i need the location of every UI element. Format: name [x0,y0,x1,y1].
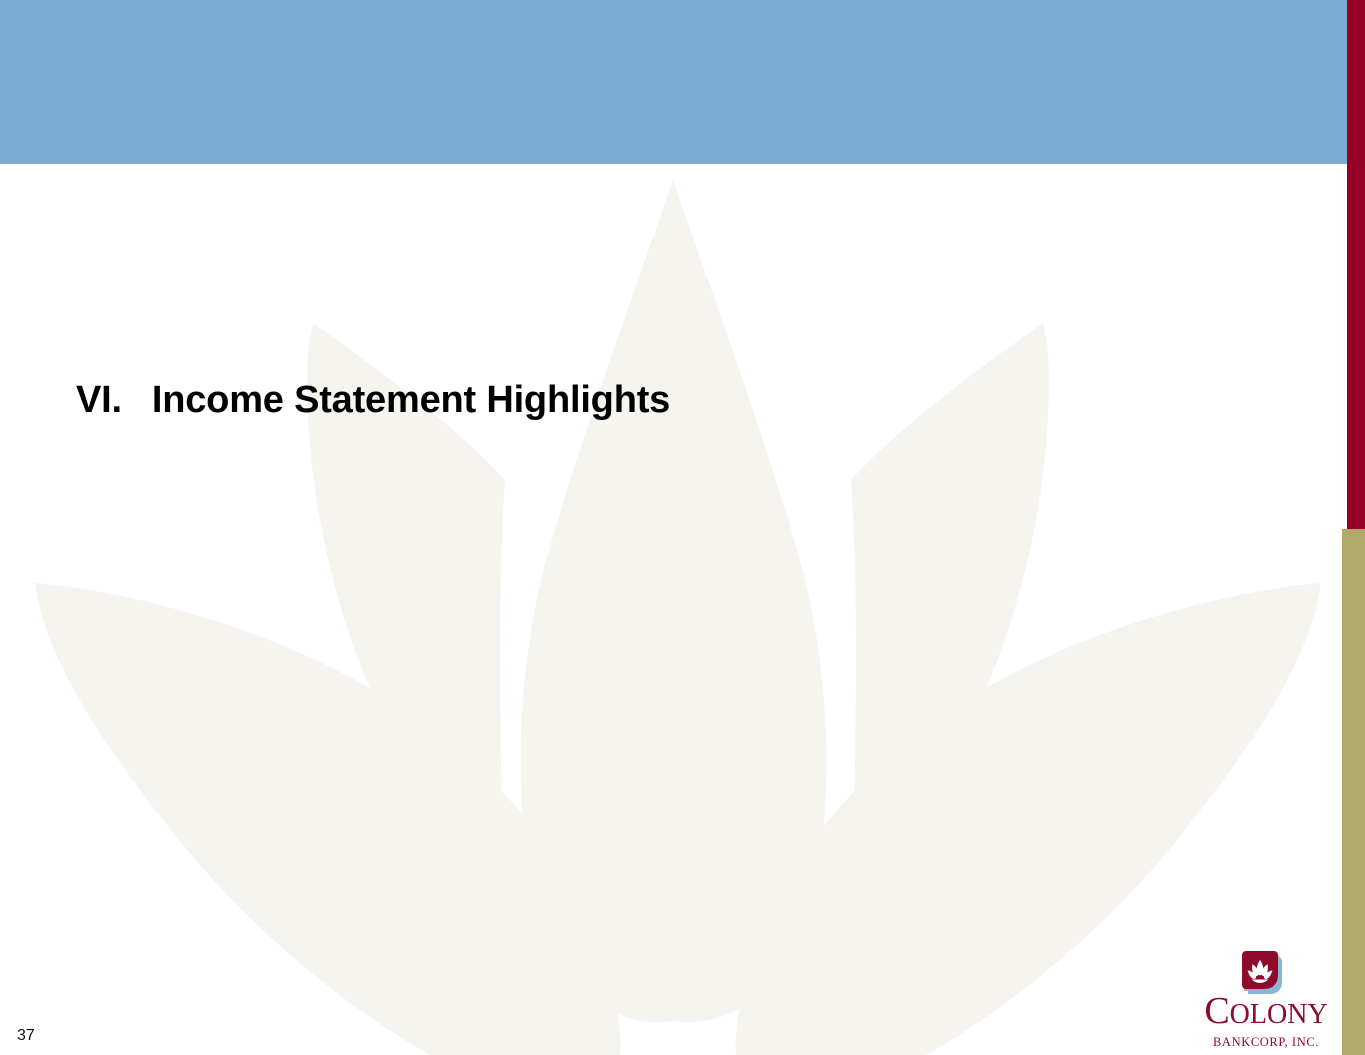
section-title-text: Income Statement Highlights [152,379,670,422]
section-numeral: VI. [76,379,122,422]
logo-brand-rest: OLONY [1230,999,1328,1030]
edge-accent-bar-tan [1342,529,1365,1055]
colony-bankcorp-logo: COLONY BANKCORP, INC. [1192,948,1340,1034]
header-band [0,0,1347,164]
page-number: 37 [17,1027,35,1045]
logo-tagline: BANKCORP, INC. [1192,1035,1340,1049]
slide-canvas: VI. Income Statement Highlights 37 COLON… [0,0,1365,1055]
logo-brand-initial: C [1204,990,1229,1032]
edge-accent-bar-maroon [1347,0,1365,529]
section-title: VI. Income Statement Highlights [76,379,670,422]
colony-lotus-logo-icon [1240,948,1282,994]
logo-brand-name: COLONY [1192,992,1340,1034]
logo-wordmark: COLONY BANKCORP, INC. [1192,992,1340,1049]
